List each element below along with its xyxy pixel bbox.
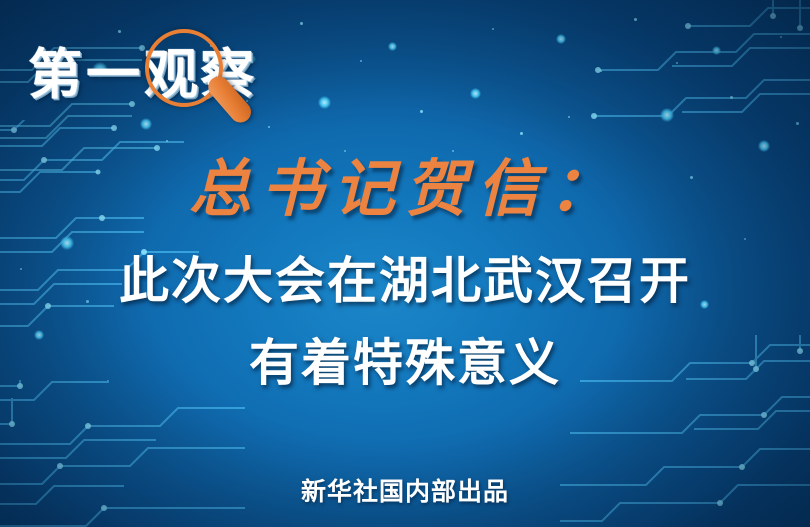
logo-char-1: 第 (28, 48, 84, 102)
publisher-credit: 新华社国内部出品 (0, 472, 810, 508)
headline-line-2: 有着特殊意义 (0, 337, 810, 390)
headline-line-1: 此次大会在湖北武汉召开 (0, 255, 810, 308)
circuit-traces-top-right (568, 0, 810, 174)
circuit-traces-left (0, 120, 204, 350)
headline-title: 总书记贺信： (0, 156, 810, 221)
brand-logo[interactable]: 第一观察 (28, 26, 308, 136)
poster-canvas: 第一观察 总书记贺信： 此次大会在湖北武汉召开 有着特殊意义 新华社国内部出品 (0, 0, 810, 527)
logo-char-2: 一 (86, 48, 142, 102)
